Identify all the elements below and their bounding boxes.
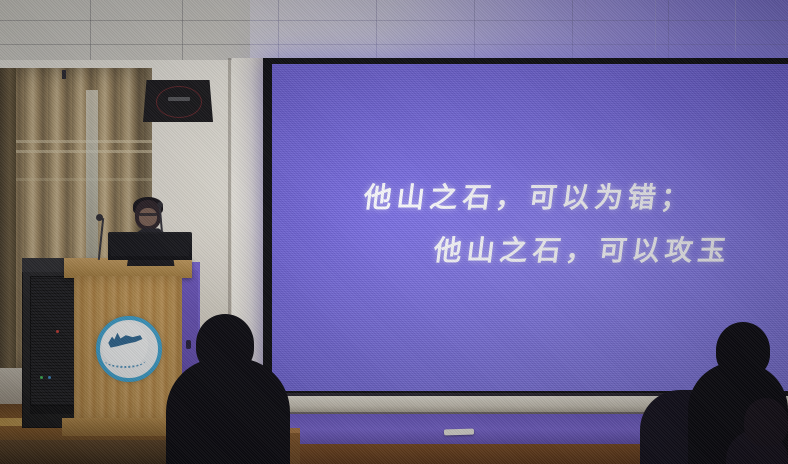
presenter-face [139,208,157,226]
glasses-icon [139,213,157,216]
rack-status-led [48,376,51,379]
microphone-capsule [157,202,163,208]
audience-head-foreground [196,314,254,374]
speaker-cone-ring [156,86,202,118]
led-video-wall[interactable] [272,64,788,391]
presentation-remote[interactable] [444,429,474,436]
ceiling-suspension-wire [735,0,736,52]
crest-arc-text [104,352,146,368]
lecture-hall-photo: 他山之石，可以为错； 他山之石，可以攻玉 [0,0,788,464]
audience-head-right [716,322,770,378]
laptop-screen [111,234,189,256]
lectern-knob[interactable] [186,340,191,349]
rack-status-led [40,376,43,379]
rack-power-led [56,330,59,333]
microphone-capsule [96,214,103,221]
curtain-edge-fold [0,68,16,368]
speaker-bracket [62,70,66,79]
audience-head-right-front [744,398,788,446]
ceiling-suspension-wire [655,0,656,56]
ceiling-suspension-wire [585,0,586,54]
wall-mounted-loudspeaker [143,76,213,122]
speaker-brand-label [168,97,190,101]
